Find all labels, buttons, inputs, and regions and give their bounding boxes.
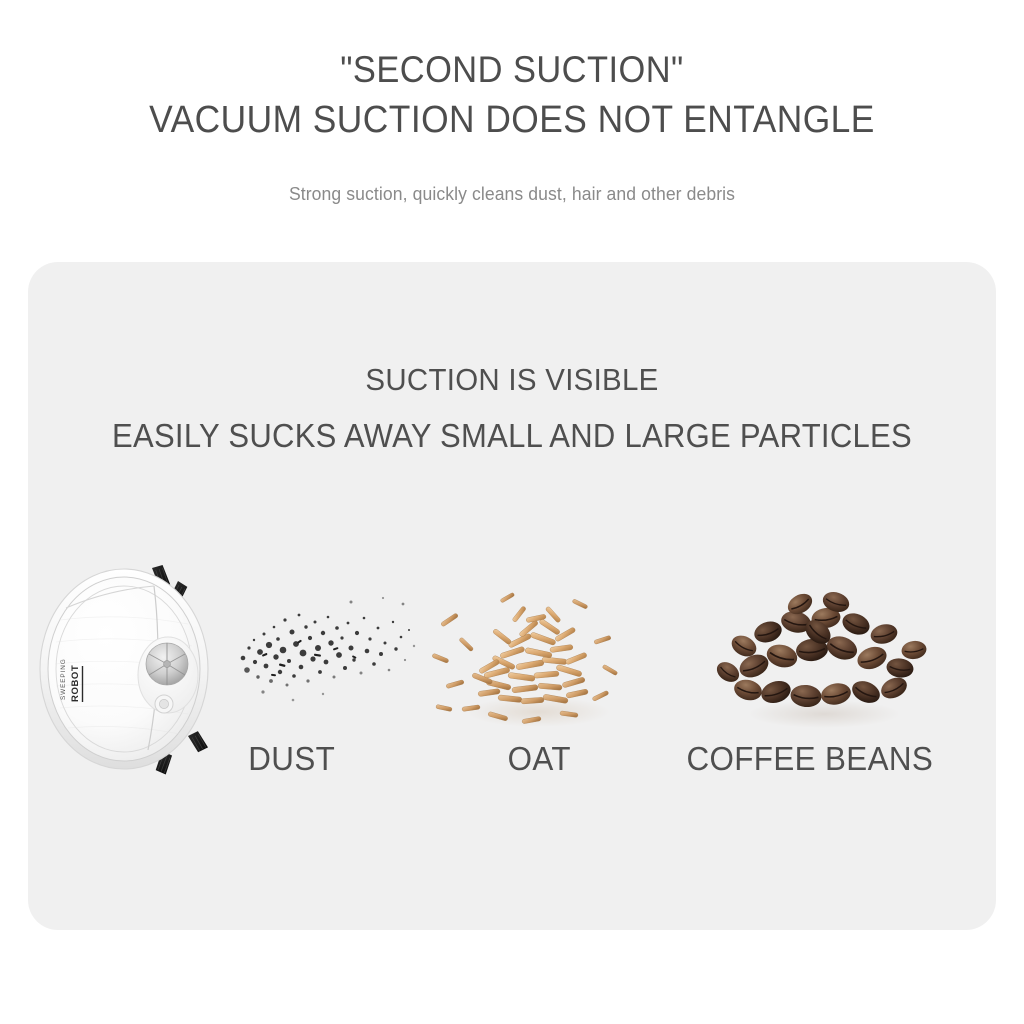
headline-line-2: VACUUM SUCTION DOES NOT ENTANGLE: [36, 98, 988, 143]
sample-label-coffee: COFFEE BEANS: [686, 740, 933, 778]
sample-label-oat: OAT: [508, 740, 571, 778]
panel-heading-line-1: SUCTION IS VISIBLE: [52, 362, 972, 398]
headline-block: "SECOND SUCTION" VACUUM SUCTION DOES NOT…: [0, 48, 1024, 142]
header-subtitle: Strong suction, quickly cleans dust, hai…: [26, 183, 999, 205]
power-button-icon[interactable]: [155, 695, 173, 713]
robot-brand-mark: ROBOT SWEEPING: [60, 658, 83, 702]
product-marketing-page: "SECOND SUCTION" VACUUM SUCTION DOES NOT…: [0, 0, 1024, 1024]
oat-pile-svg: [426, 572, 641, 742]
headline-line-1: "SECOND SUCTION": [36, 48, 988, 92]
dust-particles-illustration: [233, 582, 423, 722]
coffee-pile-shadow: [748, 700, 900, 728]
sample-label-dust: DUST: [248, 740, 335, 778]
coffee-beans-svg: [708, 580, 938, 740]
oat-pile-illustration: [426, 572, 641, 742]
dust-speck-group: [241, 597, 416, 701]
demo-panel: SUCTION IS VISIBLE EASILY SUCKS AWAY SMA…: [28, 262, 996, 930]
coffee-bean-group: [713, 589, 928, 709]
robot-brand-top: SWEEPING: [60, 658, 67, 700]
dust-particles-svg: [233, 582, 423, 722]
panel-heading-line-2: EASILY SUCKS AWAY SMALL AND LARGE PARTIC…: [57, 417, 967, 455]
robot-brand-main: ROBOT: [70, 665, 81, 702]
coffee-beans-illustration: [708, 580, 938, 740]
suction-fan-icon: [146, 643, 188, 685]
sample-labels: DUST OAT COFFEE BEANS: [28, 740, 996, 794]
